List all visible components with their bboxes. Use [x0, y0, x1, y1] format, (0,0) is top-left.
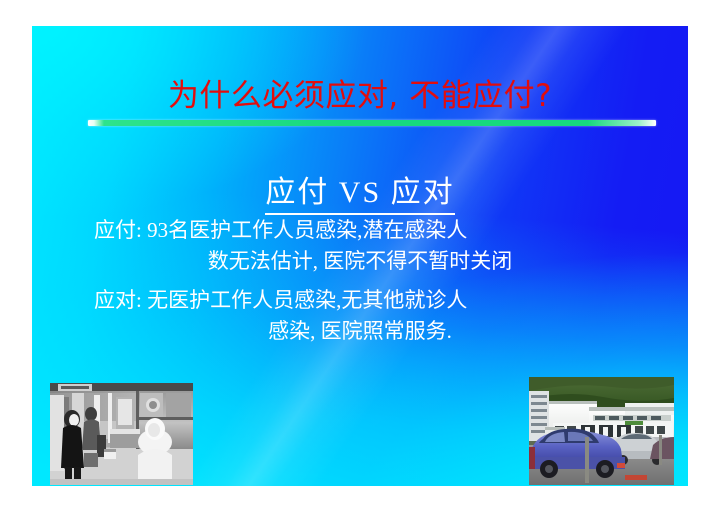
body-paragraph-yingdui: 应对: 无医护工作人员感染,无其他就诊人 感染, 医院照常服务. — [84, 285, 636, 346]
body-paragraph-yingfu: 应付: 93名医护工作人员感染,潜在感染人 数无法估计, 医院不得不暂时关闭 — [84, 215, 636, 276]
presentation-slide: 为什么必须应对, 不能应付? 应付 VS 应对 应付: 93名医护工作人员感染,… — [32, 26, 688, 486]
slide-title: 为什么必须应对, 不能应付? — [32, 80, 688, 113]
hospital-exterior-parking-photo — [529, 377, 674, 485]
body-paragraph-yingfu-line1: 应付: 93名医护工作人员感染,潜在感染人 — [84, 215, 636, 246]
body-paragraph-yingfu-line2: 数无法估计, 医院不得不暂时关闭 — [84, 246, 636, 277]
hospital-corridor-bw-photo-graphic — [50, 383, 193, 485]
slide-body: 应付: 93名医护工作人员感染,潜在感染人 数无法估计, 医院不得不暂时关闭 应… — [84, 215, 636, 349]
body-paragraph-yingdui-line2: 感染, 医院照常服务. — [84, 316, 636, 347]
slide-subtitle-row: 应付 VS 应对 — [32, 176, 688, 215]
hospital-exterior-parking-photo-graphic — [529, 377, 674, 485]
body-paragraph-yingdui-line1: 应对: 无医护工作人员感染,无其他就诊人 — [84, 285, 636, 316]
hospital-corridor-bw-photo — [50, 383, 193, 485]
slide-viewer: 为什么必须应对, 不能应付? 应付 VS 应对 应付: 93名医护工作人员感染,… — [0, 0, 720, 509]
title-divider-rule — [88, 120, 656, 126]
slide-subtitle: 应付 VS 应对 — [265, 176, 454, 215]
